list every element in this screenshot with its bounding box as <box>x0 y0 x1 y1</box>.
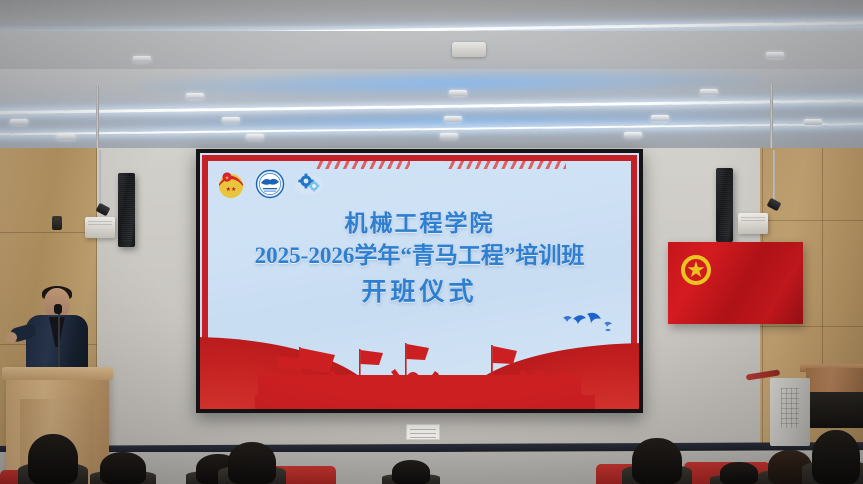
wall-socket <box>52 216 62 230</box>
downlight <box>624 132 642 138</box>
downlight <box>10 119 28 125</box>
svg-text:★: ★ <box>225 175 230 181</box>
flag-star-icon: ★ <box>685 259 707 281</box>
slide-title-line-1: 机械工程学院 <box>200 208 639 239</box>
lecture-hall-photo: ★ ★★ <box>0 0 863 484</box>
slide-title-block: 机械工程学院 2025-2026学年“青马工程”培训班 开班仪式 <box>200 208 639 311</box>
wall-plaster-left <box>97 148 197 448</box>
equipment-cabinet <box>770 378 810 446</box>
mechanical-engineering-gear-emblem-icon <box>294 169 324 199</box>
downlight <box>246 134 264 140</box>
downlight <box>444 116 462 122</box>
wooden-podium <box>6 373 109 484</box>
communist-youth-league-emblem-icon: ★ ★★ <box>216 169 246 199</box>
presentation-slide: ★ ★★ <box>200 153 639 409</box>
right-column-speaker <box>716 168 733 242</box>
downlight <box>766 52 784 58</box>
microphone-head-icon <box>54 304 62 314</box>
ceiling-band <box>0 31 863 69</box>
downlight <box>700 89 718 95</box>
ceiling-hanger-rod <box>96 86 99 150</box>
communist-youth-league-flag: ★ <box>668 242 803 324</box>
slide-decor-stripes-left <box>314 155 410 169</box>
wall-notice-paper <box>406 424 440 440</box>
left-column-speaker <box>118 173 135 247</box>
downlight <box>133 56 151 62</box>
projector-mount-arm <box>99 150 101 210</box>
presenter-hand <box>5 332 17 343</box>
slide-decor-stripes-right <box>446 155 566 169</box>
svg-text:★★: ★★ <box>226 186 237 193</box>
downlight <box>222 117 240 123</box>
microphone-stand <box>58 310 60 374</box>
ceiling <box>0 0 863 150</box>
ceiling-hanger-rod <box>770 84 773 150</box>
downlight <box>57 134 75 140</box>
downlight <box>651 115 669 121</box>
ceiling-band-top <box>0 0 863 26</box>
slide-bottom-artwork <box>200 323 639 409</box>
podium-body <box>20 399 94 484</box>
projector-mount-arm <box>773 150 775 206</box>
downlight <box>804 119 822 125</box>
university-seal-emblem-icon <box>255 169 285 199</box>
smoke-detector <box>452 42 486 57</box>
right-wall-equipment-box <box>738 213 768 234</box>
floor-strip <box>0 452 863 484</box>
left-wall-equipment-box <box>85 217 115 238</box>
projection-screen: ★ ★★ <box>196 149 643 413</box>
crowd-silhouette <box>255 339 595 409</box>
podium-top <box>2 367 113 380</box>
side-desk-shadow <box>806 392 863 428</box>
downlight <box>449 90 467 96</box>
slide-logo-row: ★ ★★ <box>216 169 324 199</box>
slide-title-line-3: 开班仪式 <box>200 275 639 311</box>
wall-seam <box>822 148 823 368</box>
downlight <box>440 133 458 139</box>
downlight <box>186 93 204 99</box>
slide-title-line-2: 2025-2026学年“青马工程”培训班 <box>200 239 639 273</box>
blue-doves-icon <box>559 309 617 335</box>
